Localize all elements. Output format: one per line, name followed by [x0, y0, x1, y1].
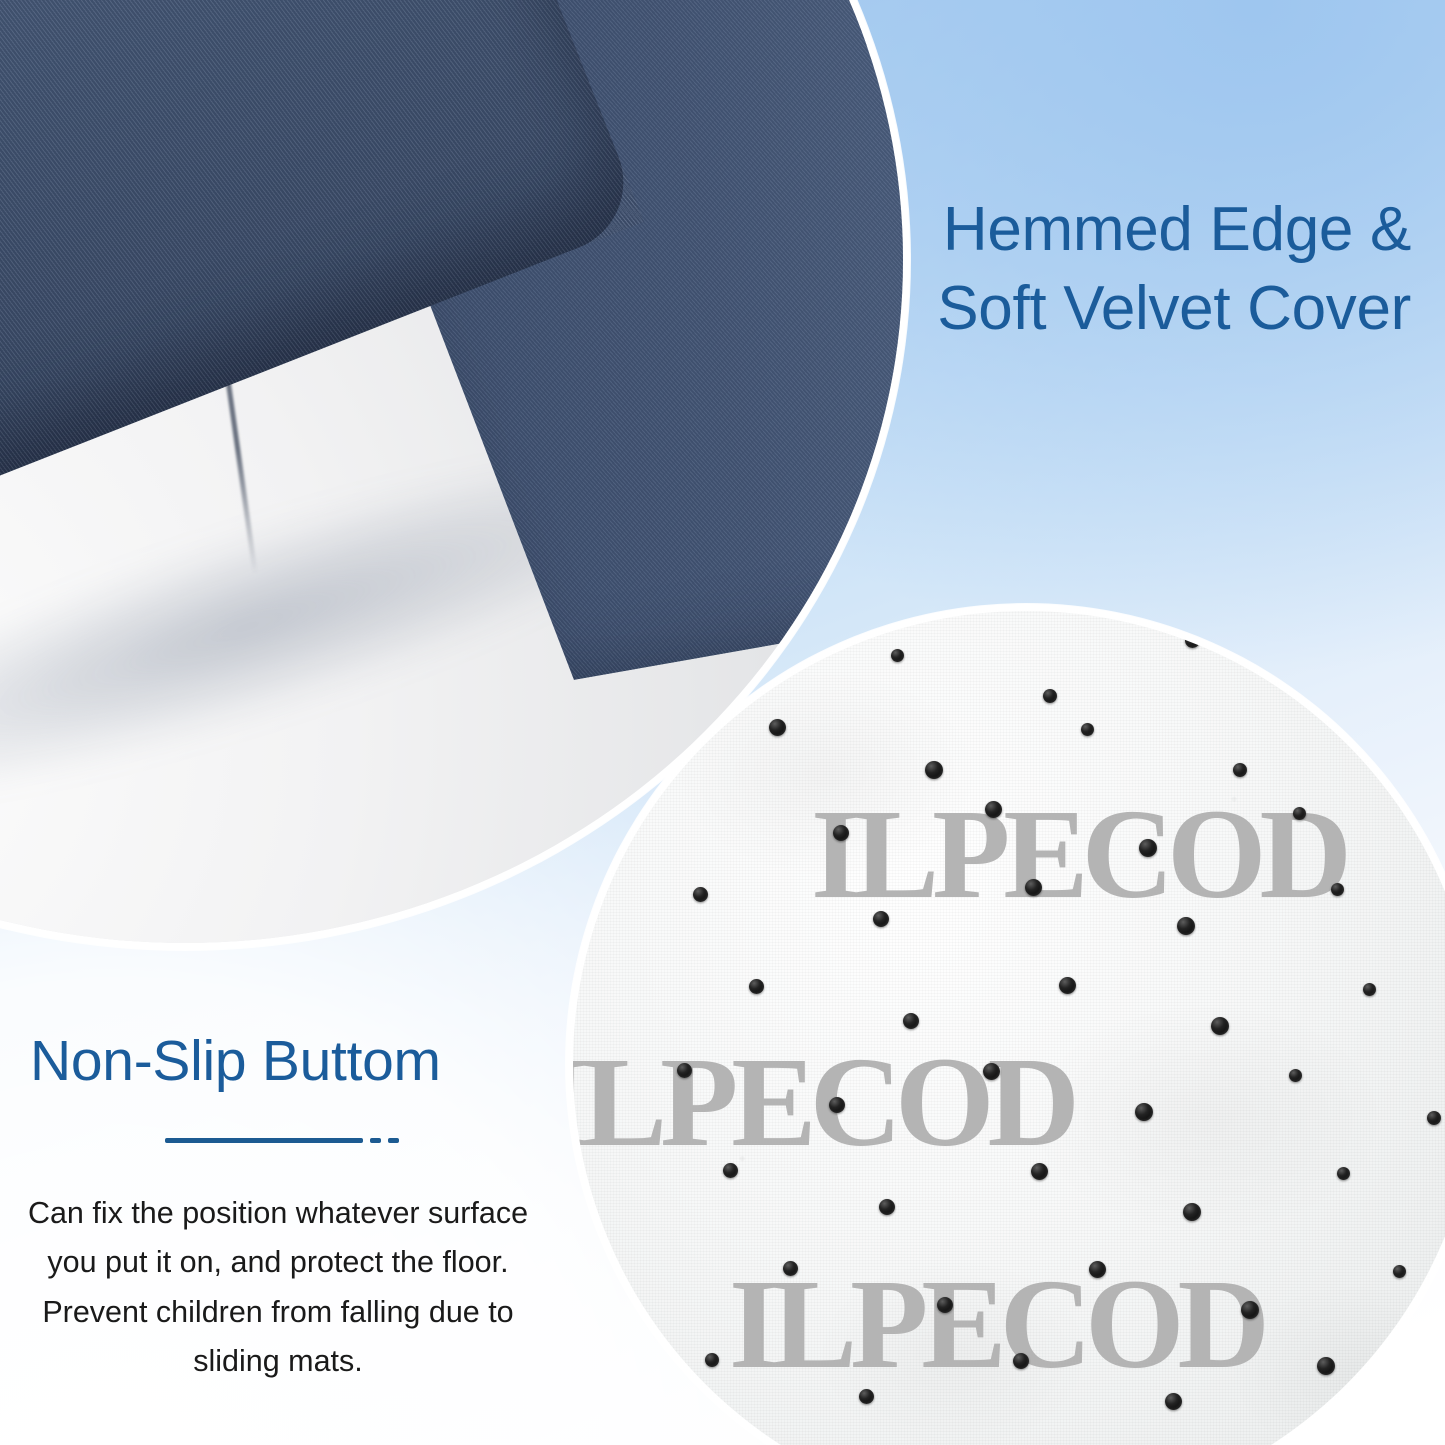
antislip-dot [769, 719, 786, 736]
antislip-dot [891, 649, 904, 662]
infographic-canvas: ILPECOD ILPECOD ILPECOD Hemmed Edge & So… [0, 0, 1445, 1445]
headline-line-1: Hemmed Edge & [791, 190, 1411, 269]
antislip-dot [1233, 763, 1247, 777]
antislip-dot [1331, 883, 1344, 896]
antislip-dot [873, 911, 889, 927]
antislip-dot [1089, 1261, 1106, 1278]
divider [16, 1138, 548, 1143]
antislip-dot [723, 1163, 738, 1178]
antislip-dot [693, 887, 708, 902]
antislip-dot [1139, 839, 1157, 857]
antislip-dot [1363, 983, 1376, 996]
divider-dash [388, 1138, 399, 1143]
brand-watermark: ILPECOD [811, 781, 1345, 928]
antislip-dot [1317, 1357, 1335, 1375]
antislip-dot [1135, 1103, 1153, 1121]
antislip-dot [705, 1353, 719, 1367]
antislip-dot [1081, 723, 1094, 736]
antislip-dot [833, 825, 849, 841]
antislip-dot [1043, 689, 1057, 703]
feature-block: Non-Slip Buttom Can fix the position wha… [8, 1030, 548, 1386]
antislip-dot [1183, 1203, 1201, 1221]
antislip-dot [749, 979, 764, 994]
antislip-dot [937, 1297, 953, 1313]
antislip-dot [1435, 851, 1445, 865]
antislip-dot [859, 1389, 874, 1404]
divider-line [165, 1138, 363, 1143]
antislip-dot [1025, 879, 1042, 896]
antislip-dot [1427, 1111, 1441, 1125]
antislip-dot [903, 1013, 919, 1029]
antislip-dot [983, 1063, 1000, 1080]
antislip-dot [879, 1199, 895, 1215]
photo-nonslip-bottom: ILPECOD ILPECOD ILPECOD [566, 604, 1445, 1445]
nonslip-scene: ILPECOD ILPECOD ILPECOD [573, 611, 1445, 1445]
headline: Hemmed Edge & Soft Velvet Cover [791, 190, 1411, 349]
divider-dash [370, 1138, 381, 1143]
antislip-dot [1177, 917, 1195, 935]
antislip-dot [1293, 807, 1306, 820]
brand-watermark: ILPECOD [729, 1251, 1263, 1398]
antislip-dot [1337, 1167, 1350, 1180]
antislip-dot [1393, 1265, 1406, 1278]
antislip-dot [783, 1261, 798, 1276]
antislip-dot [829, 1097, 845, 1113]
headline-line-2: Soft Velvet Cover [791, 269, 1411, 348]
antislip-dot [985, 801, 1002, 818]
antislip-dot [1241, 1301, 1259, 1319]
antislip-dot [1211, 1017, 1229, 1035]
feature-body: Can fix the position whatever surface yo… [8, 1189, 548, 1387]
antislip-dot [677, 1063, 692, 1078]
antislip-dot [1059, 977, 1076, 994]
antislip-dot [1185, 633, 1200, 648]
feature-title: Non-Slip Buttom [8, 1030, 548, 1093]
antislip-dot [1339, 671, 1355, 687]
antislip-dot [1031, 1163, 1048, 1180]
antislip-dot [1289, 1069, 1302, 1082]
antislip-dot [925, 761, 943, 779]
antislip-dot [1013, 1353, 1029, 1369]
antislip-dot [1391, 715, 1406, 730]
brand-watermark: ILPECOD [573, 1029, 1073, 1176]
antislip-dot [1165, 1393, 1182, 1410]
